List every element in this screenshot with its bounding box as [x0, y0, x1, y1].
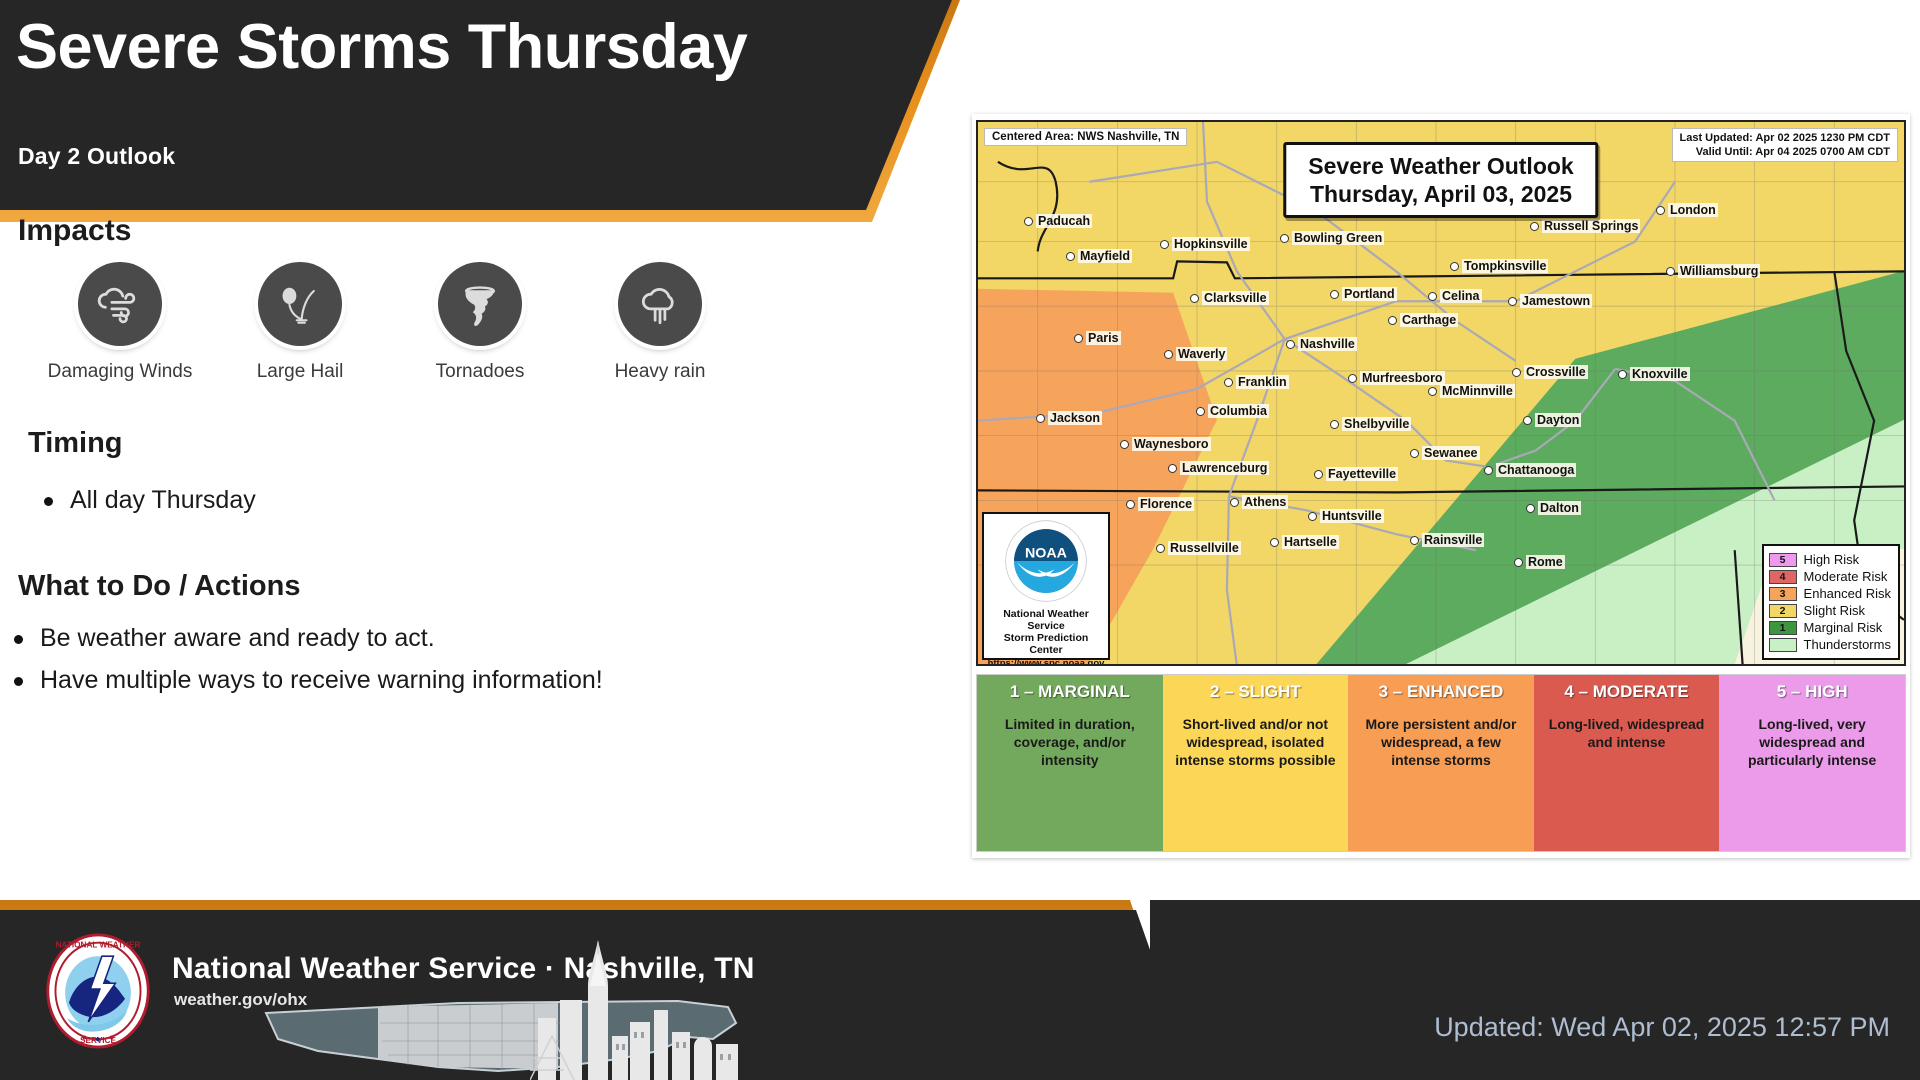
actions-heading: What to Do / Actions [18, 570, 300, 603]
city-label: Rainsville [1422, 533, 1484, 547]
city-dot-icon [1126, 500, 1135, 509]
city-dot-icon [1514, 558, 1523, 567]
city-label: Clarksville [1202, 291, 1269, 305]
impact-item-heavy-rain: Heavy rain [590, 262, 730, 383]
city-dot-icon [1120, 440, 1129, 449]
noaa-line2: Storm Prediction Center [987, 632, 1105, 656]
valid-until-text: Valid Until: Apr 04 2025 0700 AM CDT [1680, 145, 1891, 159]
city-dot-icon [1164, 350, 1173, 359]
city-dot-icon [1410, 536, 1419, 545]
city-label: Knoxville [1630, 367, 1690, 381]
city-dot-icon [1330, 290, 1339, 299]
risk-category-description: Long-lived, very widespread and particul… [1719, 709, 1905, 851]
nws-seal-logo: NATIONAL WEATHER SERVICE [40, 933, 156, 1049]
city-label: Fayetteville [1326, 467, 1398, 481]
city-dot-icon [1230, 498, 1239, 507]
noaa-line1: National Weather Service [987, 608, 1105, 632]
impact-item-large-hail: Large Hail [230, 262, 370, 383]
city-label: Mayfield [1078, 249, 1132, 263]
noaa-spc-logo-box: NOAA National Weather Service Storm Pred… [982, 512, 1110, 660]
legend-label: Slight Risk [1804, 603, 1865, 618]
city-label: Crossville [1524, 365, 1588, 379]
impact-label: Damaging Winds [48, 361, 193, 383]
legend-row: Thunderstorms [1769, 636, 1891, 653]
timing-list: All day Thursday [44, 484, 256, 526]
severe-weather-graphic: Severe Storms Thursday Day 2 Outlook Imp… [0, 0, 1920, 1080]
legend-swatch: 1 [1769, 621, 1797, 635]
city-label: Bowling Green [1292, 231, 1384, 245]
city-dot-icon [1388, 316, 1397, 325]
city-label: Sewanee [1422, 446, 1480, 460]
impact-label: Large Hail [257, 361, 344, 383]
city-label: Portland [1342, 287, 1397, 301]
risk-category-cell: 5 – HIGHLong-lived, very widespread and … [1719, 675, 1905, 851]
rain-cloud-icon [618, 262, 702, 346]
city-label: Hopkinsville [1172, 237, 1250, 251]
city-dot-icon [1190, 294, 1199, 303]
city-label: Columbia [1208, 404, 1269, 418]
actions-list: Be weather aware and ready to act. Have … [14, 622, 603, 706]
city-dot-icon [1428, 292, 1437, 301]
svg-text:NOAA: NOAA [1025, 546, 1067, 562]
risk-category-description: More persistent and/or widespread, a few… [1348, 709, 1534, 851]
city-label: Carthage [1400, 313, 1458, 327]
legend-swatch: 2 [1769, 604, 1797, 618]
impact-label: Heavy rain [615, 361, 706, 383]
city-label: Murfreesboro [1360, 371, 1445, 385]
city-dot-icon [1286, 340, 1295, 349]
map-title-line1: Severe Weather Outlook [1308, 152, 1573, 180]
city-dot-icon [1168, 464, 1177, 473]
city-dot-icon [1526, 504, 1535, 513]
list-item: Have multiple ways to receive warning in… [14, 664, 603, 698]
city-label: Dalton [1538, 501, 1581, 515]
legend-row: 3Enhanced Risk [1769, 585, 1891, 602]
city-dot-icon [1314, 470, 1323, 479]
city-label: Paducah [1036, 214, 1092, 228]
city-label: Waverly [1176, 347, 1227, 361]
outlook-map-panel: PaducahMayfieldHopkinsvilleBowling Green… [972, 114, 1910, 858]
legend-row: 2Slight Risk [1769, 602, 1891, 619]
impact-item-tornadoes: Tornadoes [410, 262, 550, 383]
city-label: Chattanooga [1496, 463, 1576, 477]
list-item: Be weather aware and ready to act. [14, 622, 603, 656]
page-subtitle: Day 2 Outlook [18, 143, 175, 170]
city-dot-icon [1410, 449, 1419, 458]
city-dot-icon [1512, 368, 1521, 377]
impacts-heading: Impacts [18, 214, 131, 248]
legend-row: 1Marginal Risk [1769, 619, 1891, 636]
risk-category-description: Long-lived, widespread and intense [1534, 709, 1720, 851]
city-dot-icon [1484, 466, 1493, 475]
risk-category-description: Short-lived and/or not widespread, isola… [1163, 709, 1349, 851]
city-dot-icon [1160, 240, 1169, 249]
city-label: Celina [1440, 289, 1482, 303]
risk-category-bar: 1 – MARGINALLimited in duration, coverag… [976, 674, 1906, 852]
legend-row: 4Moderate Risk [1769, 568, 1891, 585]
city-label: Athens [1242, 495, 1288, 509]
risk-category-title: 5 – HIGH [1719, 675, 1905, 709]
svg-text:NATIONAL WEATHER: NATIONAL WEATHER [56, 941, 141, 950]
risk-category-cell: 4 – MODERATELong-lived, widespread and i… [1534, 675, 1720, 851]
city-label: Jackson [1048, 411, 1102, 425]
noaa-url: https://www.spc.noaa.gov [987, 658, 1105, 666]
city-label: McMinnville [1440, 384, 1515, 398]
risk-category-title: 2 – SLIGHT [1163, 675, 1349, 709]
risk-legend: 5High Risk4Moderate Risk3Enhanced Risk2S… [1762, 544, 1900, 660]
legend-swatch: 5 [1769, 553, 1797, 567]
city-dot-icon [1348, 374, 1357, 383]
tornado-icon [438, 262, 522, 346]
city-dot-icon [1330, 420, 1339, 429]
city-label: Williamsburg [1678, 264, 1760, 278]
legend-swatch [1769, 638, 1797, 652]
city-label: Franklin [1236, 375, 1289, 389]
nashville-skyline-icon [530, 940, 745, 1080]
bullet-icon [14, 677, 23, 686]
legend-label: Thunderstorms [1804, 637, 1891, 652]
city-dot-icon [1450, 262, 1459, 271]
map-title-line2: Thursday, April 03, 2025 [1308, 180, 1573, 208]
legend-row: 5High Risk [1769, 551, 1891, 568]
list-item: All day Thursday [44, 484, 256, 518]
impact-item-damaging-winds: Damaging Winds [50, 262, 190, 383]
city-label: Russellville [1168, 541, 1241, 555]
city-dot-icon [1308, 512, 1317, 521]
impacts-icon-row: Damaging Winds Large Hail [50, 262, 750, 383]
risk-category-cell: 3 – ENHANCEDMore persistent and/or wides… [1348, 675, 1534, 851]
noaa-logo-icon: NOAA [1004, 519, 1088, 603]
legend-swatch: 3 [1769, 587, 1797, 601]
city-label: Jamestown [1520, 294, 1592, 308]
city-label: Hartselle [1282, 535, 1339, 549]
city-dot-icon [1036, 414, 1045, 423]
centered-area-label: Centered Area: NWS Nashville, TN [984, 128, 1187, 146]
action-text: Be weather aware and ready to act. [40, 622, 435, 656]
wind-cloud-icon [78, 262, 162, 346]
city-label: Shelbyville [1342, 417, 1411, 431]
city-label: Nashville [1298, 337, 1357, 351]
bullet-icon [14, 635, 23, 644]
city-label: Dayton [1535, 413, 1581, 427]
city-label: Huntsville [1320, 509, 1384, 523]
hail-stone-icon [258, 262, 342, 346]
city-dot-icon [1523, 416, 1532, 425]
city-label: London [1668, 203, 1718, 217]
city-label: Tompkinsville [1462, 259, 1548, 273]
impact-label: Tornadoes [436, 361, 525, 383]
city-dot-icon [1066, 252, 1075, 261]
city-label: Paris [1086, 331, 1121, 345]
city-dot-icon [1656, 206, 1665, 215]
risk-category-description: Limited in duration, coverage, and/or in… [977, 709, 1163, 851]
city-dot-icon [1530, 222, 1539, 231]
city-label: Florence [1138, 497, 1194, 511]
footer: NATIONAL WEATHER SERVICE National Weathe… [0, 900, 1920, 1080]
city-label: Russell Springs [1542, 219, 1640, 233]
timing-heading: Timing [28, 427, 123, 460]
timing-text: All day Thursday [70, 484, 256, 518]
city-label: Rome [1526, 555, 1565, 569]
legend-label: Enhanced Risk [1804, 586, 1891, 601]
footer-dark-right [1150, 900, 1920, 1080]
legend-swatch: 4 [1769, 570, 1797, 584]
outlook-map: PaducahMayfieldHopkinsvilleBowling Green… [976, 120, 1906, 666]
map-title-box: Severe Weather Outlook Thursday, April 0… [1283, 142, 1598, 218]
city-dot-icon [1270, 538, 1279, 547]
risk-category-cell: 1 – MARGINALLimited in duration, coverag… [977, 675, 1163, 851]
legend-label: High Risk [1804, 552, 1860, 567]
action-text: Have multiple ways to receive warning in… [40, 664, 603, 698]
city-dot-icon [1024, 217, 1033, 226]
map-validity-label: Last Updated: Apr 02 2025 1230 PM CDT Va… [1672, 128, 1899, 162]
city-dot-icon [1508, 297, 1517, 306]
legend-label: Marginal Risk [1804, 620, 1883, 635]
risk-category-title: 3 – ENHANCED [1348, 675, 1534, 709]
bullet-icon [44, 497, 53, 506]
city-dot-icon [1280, 234, 1289, 243]
city-dot-icon [1156, 544, 1165, 553]
risk-category-cell: 2 – SLIGHTShort-lived and/or not widespr… [1163, 675, 1349, 851]
risk-category-title: 1 – MARGINAL [977, 675, 1163, 709]
city-dot-icon [1196, 407, 1205, 416]
city-label: Waynesboro [1132, 437, 1211, 451]
city-label: Lawrenceburg [1180, 461, 1269, 475]
last-updated-text: Last Updated: Apr 02 2025 1230 PM CDT [1680, 131, 1891, 145]
risk-category-title: 4 – MODERATE [1534, 675, 1720, 709]
legend-label: Moderate Risk [1804, 569, 1888, 584]
header: Severe Storms Thursday Day 2 Outlook [0, 0, 960, 222]
content-panel: Impacts Damaging Winds [0, 222, 960, 902]
city-dot-icon [1618, 370, 1627, 379]
city-dot-icon [1074, 334, 1083, 343]
page-title: Severe Storms Thursday [16, 14, 836, 80]
city-dot-icon [1666, 267, 1675, 276]
footer-updated-timestamp: Updated: Wed Apr 02, 2025 12:57 PM [1434, 1012, 1890, 1043]
city-dot-icon [1224, 378, 1233, 387]
city-dot-icon [1428, 387, 1437, 396]
